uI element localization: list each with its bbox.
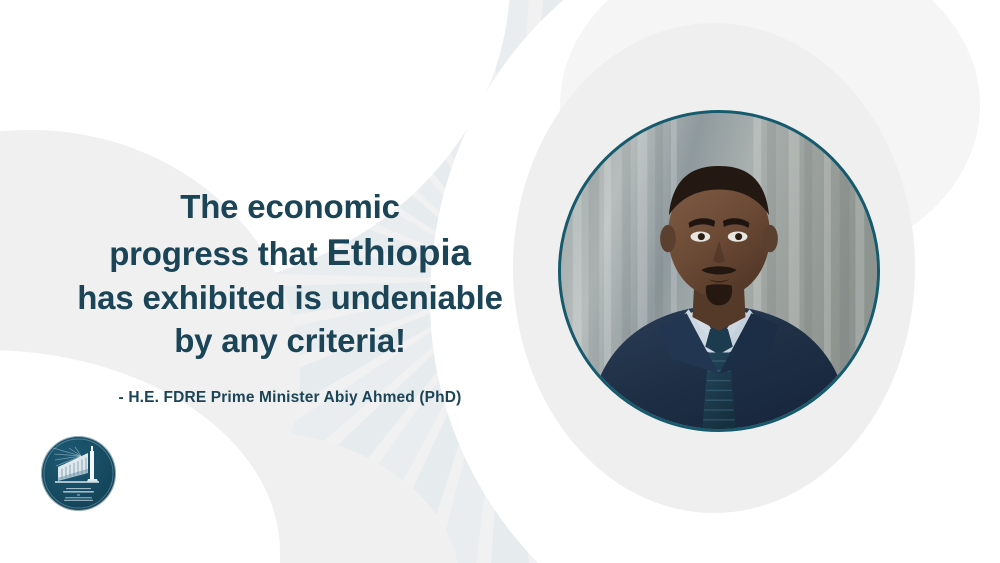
poster-canvas: The economicprogress that Ethiopiahas ex… bbox=[0, 0, 1000, 563]
portrait-avatar bbox=[558, 110, 880, 432]
quote-text: The economicprogress that Ethiopiahas ex… bbox=[30, 186, 550, 363]
portrait-illustration bbox=[561, 113, 877, 429]
quote-block: The economicprogress that Ethiopiahas ex… bbox=[30, 186, 550, 407]
logo-emblem bbox=[41, 436, 116, 511]
institution-logo bbox=[41, 436, 116, 511]
quote-attribution: - H.E. FDRE Prime Minister Abiy Ahmed (P… bbox=[30, 389, 550, 407]
quote-highlight-word: Ethiopia bbox=[326, 232, 470, 273]
